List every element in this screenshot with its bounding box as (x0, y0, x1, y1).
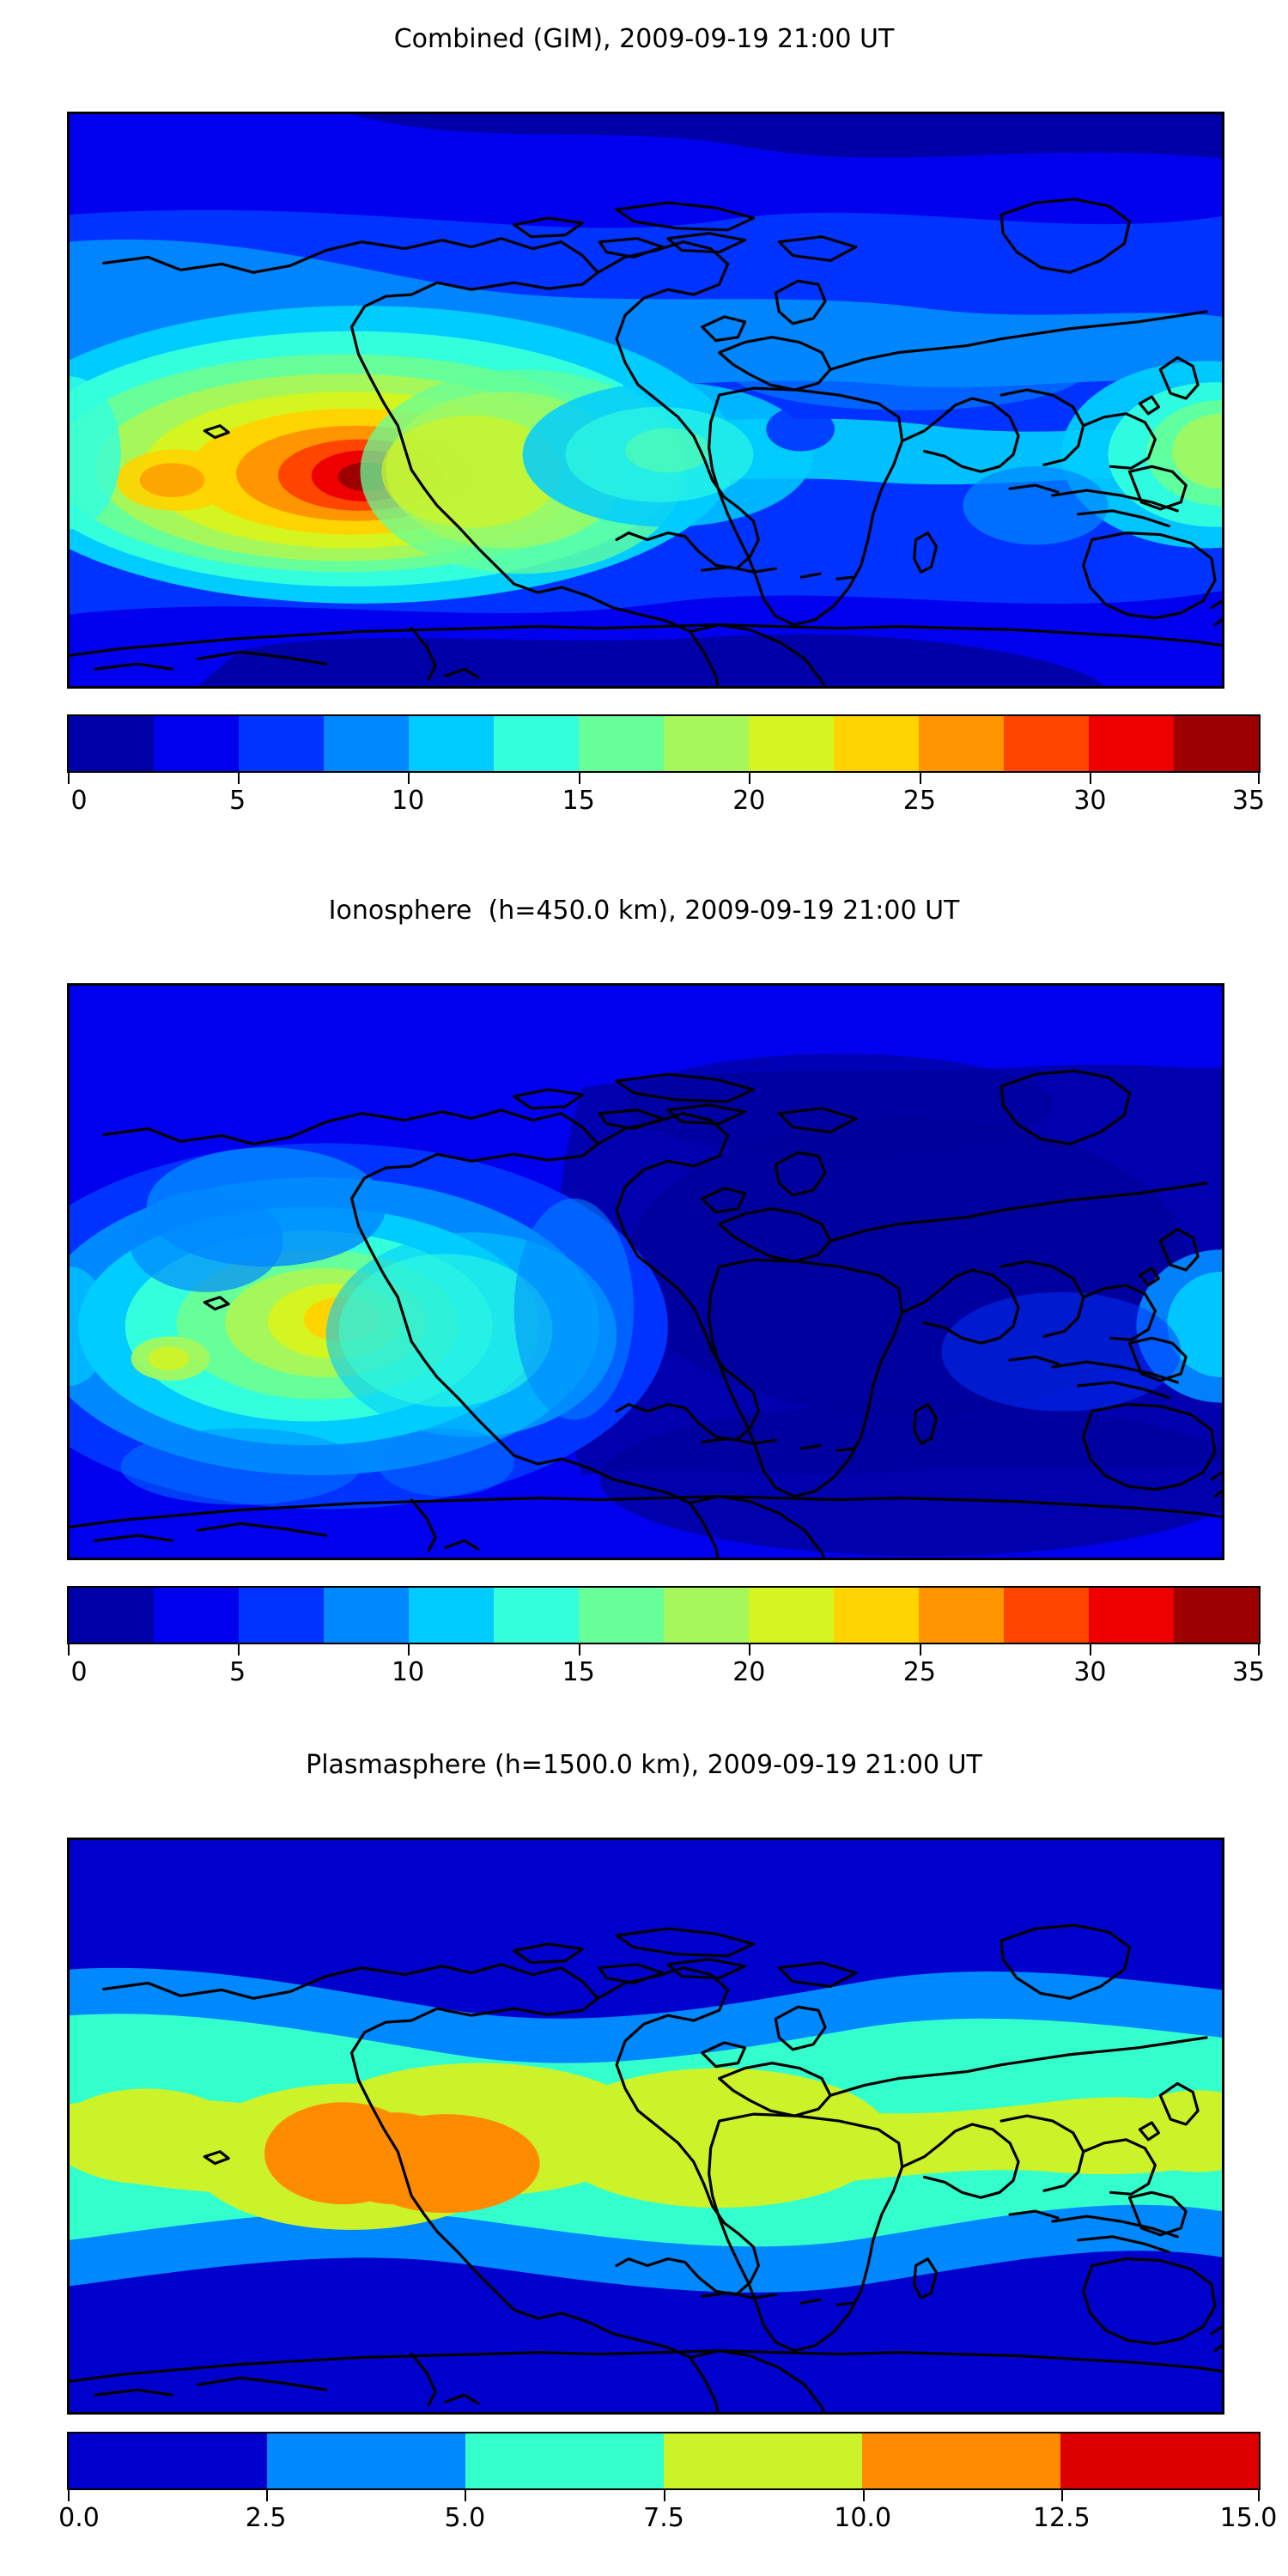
colorbar-band-10 (919, 1588, 1004, 1643)
colorbar-axis-plasmasphere: 0.02.55.07.510.012.515.0 (67, 2490, 1261, 2540)
colorbar-tick-label-5: 25 (903, 786, 936, 816)
colorbar-tick-4 (749, 1644, 750, 1656)
colorbar-combined: 05101520253035 (67, 714, 1261, 823)
colorbar-band-1 (267, 2433, 465, 2488)
colorbar-tick-label-7: 35 (1232, 786, 1265, 816)
colorbar-tick-label-0: 0 (70, 786, 87, 816)
colorbar-ionosphere: 05101520253035 (67, 1586, 1261, 1694)
colorbar-band-0 (69, 2433, 267, 2488)
colorbar-band-1 (154, 1588, 239, 1643)
colorbar-tick-label-2: 10 (392, 786, 424, 816)
panel-title-ionosphere: Ionosphere (h=450.0 km), 2009-09-19 21:0… (0, 896, 1288, 926)
colorbar-band-9 (834, 1588, 919, 1643)
colorbar-tick-4 (863, 2490, 865, 2501)
colorbar-bands-ionosphere (67, 1586, 1261, 1644)
colorbar-tick-3 (579, 773, 580, 784)
colorbar-tick-label-5: 25 (903, 1657, 936, 1687)
colorbar-tick-0 (68, 773, 70, 784)
colorbar-axis-combined: 05101520253035 (67, 773, 1261, 823)
colorbar-tick-6 (1258, 2490, 1260, 2501)
colorbar-axis-ionosphere: 05101520253035 (67, 1644, 1261, 1694)
colorbar-tick-label-3: 15 (562, 1657, 595, 1687)
colorbar-band-7 (664, 716, 749, 771)
colorbar-tick-label-1: 2.5 (246, 2503, 287, 2533)
colorbar-tick-label-4: 20 (732, 1657, 765, 1687)
colorbar-tick-label-0: 0.0 (58, 2503, 100, 2533)
colorbar-tick-7 (1258, 773, 1260, 784)
colorbar-band-5 (1060, 2433, 1259, 2488)
colorbar-band-4 (409, 716, 494, 771)
colorbar-band-2 (239, 716, 324, 771)
colorbar-tick-2 (408, 773, 410, 784)
map-ionosphere-450km (67, 983, 1224, 1560)
colorbar-band-6 (579, 716, 664, 771)
colorbar-tick-1 (238, 773, 240, 784)
colorbar-band-0 (69, 1588, 154, 1643)
colorbar-band-4 (862, 2433, 1060, 2488)
colorbar-tick-3 (579, 1644, 580, 1656)
colorbar-tick-6 (1090, 1644, 1091, 1656)
map-combined-gim (67, 112, 1224, 689)
colorbar-tick-label-1: 5 (229, 1657, 246, 1687)
colorbar-bands-plasmasphere (67, 2432, 1261, 2490)
map-canvas-plasmasphere (70, 1840, 1222, 2412)
colorbar-tick-label-5: 12.5 (1033, 2503, 1091, 2533)
colorbar-tick-0 (68, 1644, 70, 1656)
colorbar-band-2 (465, 2433, 664, 2488)
colorbar-tick-label-4: 20 (732, 786, 765, 816)
colorbar-tick-2 (408, 1644, 410, 1656)
colorbar-tick-label-6: 15.0 (1220, 2503, 1278, 2533)
colorbar-tick-7 (1258, 1644, 1260, 1656)
colorbar-band-8 (749, 716, 834, 771)
panel-title-combined: Combined (GIM), 2009-09-19 21:00 UT (0, 24, 1288, 54)
colorbar-band-0 (69, 716, 154, 771)
colorbar-band-3 (324, 1588, 409, 1643)
colorbar-tick-1 (238, 1644, 240, 1656)
colorbar-tick-0 (68, 2490, 70, 2501)
colorbar-tick-3 (664, 2490, 665, 2501)
colorbar-tick-4 (749, 773, 750, 784)
colorbar-tick-label-4: 10.0 (834, 2503, 891, 2533)
colorbar-band-2 (239, 1588, 324, 1643)
map-canvas-combined (70, 114, 1222, 686)
colorbar-plasmasphere: 0.02.55.07.510.012.515.0 (67, 2432, 1261, 2540)
panel-plasmasphere-1500km: Plasmasphere (h=1500.0 km), 2009-09-19 2… (0, 1726, 1288, 2576)
map-plasmasphere-1500km (67, 1838, 1224, 2415)
colorbar-band-11 (1004, 1588, 1089, 1643)
panel-combined-gim: Combined (GIM), 2009-09-19 21:00 UT (0, 0, 1288, 859)
colorbar-band-4 (409, 1588, 494, 1643)
colorbar-tick-5 (920, 1644, 921, 1656)
colorbar-band-5 (494, 716, 579, 771)
colorbar-tick-label-1: 5 (229, 786, 246, 816)
colorbar-band-7 (664, 1588, 749, 1643)
colorbar-tick-1 (266, 2490, 268, 2501)
colorbar-tick-5 (920, 773, 921, 784)
colorbar-band-8 (749, 1588, 834, 1643)
colorbar-tick-label-2: 10 (392, 1657, 424, 1687)
colorbar-tick-2 (465, 2490, 466, 2501)
colorbar-tick-6 (1090, 773, 1091, 784)
colorbar-band-3 (664, 2433, 862, 2488)
colorbar-band-12 (1089, 1588, 1174, 1643)
colorbar-tick-label-3: 15 (562, 786, 595, 816)
colorbar-tick-label-6: 30 (1073, 786, 1106, 816)
colorbar-tick-label-7: 35 (1232, 1657, 1265, 1687)
colorbar-band-5 (494, 1588, 579, 1643)
colorbar-band-13 (1174, 716, 1259, 771)
colorbar-band-10 (919, 716, 1004, 771)
tec-map-figure: Combined (GIM), 2009-09-19 21:00 UT (0, 0, 1288, 2576)
colorbar-band-6 (579, 1588, 664, 1643)
colorbar-tick-label-6: 30 (1073, 1657, 1106, 1687)
colorbar-tick-label-3: 7.5 (643, 2503, 684, 2533)
colorbar-band-13 (1174, 1588, 1259, 1643)
colorbar-tick-label-0: 0 (70, 1657, 87, 1687)
colorbar-tick-label-2: 5.0 (444, 2503, 485, 2533)
colorbar-tick-5 (1061, 2490, 1063, 2501)
colorbar-band-12 (1089, 716, 1174, 771)
colorbar-bands-combined (67, 714, 1261, 773)
panel-title-plasmasphere: Plasmasphere (h=1500.0 km), 2009-09-19 2… (0, 1750, 1288, 1780)
colorbar-band-9 (834, 716, 919, 771)
colorbar-band-3 (324, 716, 409, 771)
panel-ionosphere-450km: Ionosphere (h=450.0 km), 2009-09-19 21:0… (0, 872, 1288, 1730)
colorbar-band-1 (154, 716, 239, 771)
map-canvas-ionosphere (70, 986, 1222, 1558)
colorbar-band-11 (1004, 716, 1089, 771)
